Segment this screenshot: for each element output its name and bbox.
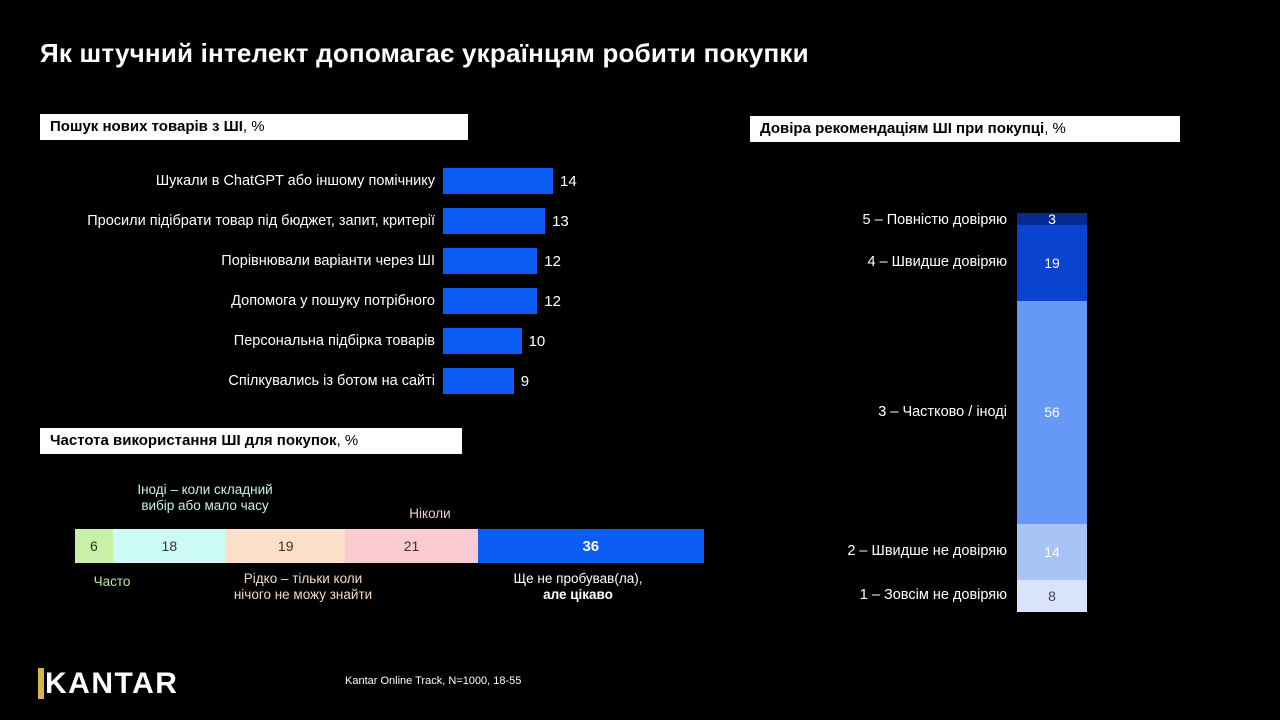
bar-row: Спілкувались із ботом на сайті9 xyxy=(40,368,660,394)
frequency-callout-often: Часто xyxy=(62,574,162,590)
trust-segment-label: 4 – Швидше довіряю xyxy=(867,254,1007,270)
trust-segment: 8 xyxy=(1017,580,1087,612)
bar-fill xyxy=(443,288,537,314)
frequency-callout-never: Ніколи xyxy=(340,506,520,522)
bar-fill xyxy=(443,328,522,354)
section-header-trust-label: Довіра рекомендаціям ШІ при покупці xyxy=(760,120,1044,137)
search-ai-products-chart: Шукали в ChatGPT або іншому помічнику14П… xyxy=(40,168,660,398)
trust-segment: 19 xyxy=(1017,225,1087,301)
frequency-segment: 18 xyxy=(113,529,226,563)
page-title: Як штучний інтелект допомагає українцям … xyxy=(40,38,809,69)
bar-row-label: Допомога у пошуку потрібного xyxy=(40,293,443,309)
bar-track: 14 xyxy=(443,168,577,194)
bar-fill xyxy=(443,368,514,394)
bar-track: 9 xyxy=(443,368,529,394)
bar-fill xyxy=(443,168,553,194)
bar-value-label: 10 xyxy=(529,333,546,350)
section-header-search-label: Пошук нових товарів з ШІ xyxy=(50,118,243,135)
kantar-logo-accent-bar xyxy=(38,668,44,699)
bar-fill xyxy=(443,248,537,274)
section-header-frequency-label: Частота використання ШІ для покупок xyxy=(50,432,337,449)
bar-row: Порівнювали варіанти через ШІ12 xyxy=(40,248,660,274)
trust-in-ai-recommendations-chart: 31956148 5 – Повністю довіряю4 – Швидше … xyxy=(750,213,1190,613)
section-header-trust-unit: , % xyxy=(1044,120,1066,137)
frequency-segment: 19 xyxy=(226,529,346,563)
frequency-of-ai-use-chart: 618192136 ЧастоІноді – коли складний виб… xyxy=(40,478,680,618)
bar-value-label: 12 xyxy=(544,293,561,310)
bar-row: Допомога у пошуку потрібного12 xyxy=(40,288,660,314)
frequency-segment: 6 xyxy=(75,529,113,563)
section-header-search: Пошук нових товарів з ШІ, % xyxy=(40,114,468,140)
bar-row: Шукали в ChatGPT або іншому помічнику14 xyxy=(40,168,660,194)
bar-row-label: Порівнювали варіанти через ШІ xyxy=(40,253,443,269)
bar-value-label: 14 xyxy=(560,173,577,190)
bar-row-label: Просили підібрати товар під бюджет, запи… xyxy=(40,213,443,229)
frequency-callout-rarely: Рідко – тільки коли нічого не можу знайт… xyxy=(178,571,428,603)
frequency-callout-sometimes: Іноді – коли складний вибір або мало час… xyxy=(85,482,325,514)
trust-stacked-column: 31956148 xyxy=(1017,213,1087,612)
frequency-stacked-bar: 618192136 xyxy=(75,529,704,563)
source-note: Kantar Online Track, N=1000, 18-55 xyxy=(345,675,521,687)
section-header-frequency: Частота використання ШІ для покупок, % xyxy=(40,428,462,454)
bar-value-label: 13 xyxy=(552,213,569,230)
bar-row-label: Персональна підбірка товарів xyxy=(40,333,443,349)
trust-segment: 56 xyxy=(1017,301,1087,524)
bar-value-label: 12 xyxy=(544,253,561,270)
frequency-callout-not-tried-line2: але цікаво xyxy=(453,587,703,603)
bar-track: 12 xyxy=(443,288,561,314)
bar-value-label: 9 xyxy=(521,373,529,390)
bar-track: 12 xyxy=(443,248,561,274)
section-header-trust: Довіра рекомендаціям ШІ при покупці, % xyxy=(750,116,1180,142)
frequency-callout-not-tried: Ще не пробував(ла),але цікаво xyxy=(453,571,703,603)
bar-fill xyxy=(443,208,545,234)
section-header-frequency-unit: , % xyxy=(337,432,359,449)
frequency-segment: 36 xyxy=(478,529,704,563)
bar-row: Просили підібрати товар під бюджет, запи… xyxy=(40,208,660,234)
section-header-search-unit: , % xyxy=(243,118,265,135)
kantar-logo-text: KANTAR xyxy=(45,668,178,699)
kantar-logo: KANTAR xyxy=(38,666,178,700)
bar-row-label: Спілкувались із ботом на сайті xyxy=(40,373,443,389)
trust-segment-label: 5 – Повністю довіряю xyxy=(863,212,1007,228)
bar-row-label: Шукали в ChatGPT або іншому помічнику xyxy=(40,173,443,189)
trust-segment: 3 xyxy=(1017,213,1087,225)
trust-segment-label: 2 – Швидше не довіряю xyxy=(847,543,1007,559)
trust-segment: 14 xyxy=(1017,524,1087,580)
frequency-segment: 21 xyxy=(345,529,477,563)
frequency-callout-not-tried-line1: Ще не пробував(ла), xyxy=(514,571,643,586)
bar-track: 13 xyxy=(443,208,569,234)
trust-segment-label: 1 – Зовсім не довіряю xyxy=(860,587,1007,603)
bar-track: 10 xyxy=(443,328,545,354)
trust-segment-label: 3 – Частково / іноді xyxy=(878,404,1007,420)
bar-row: Персональна підбірка товарів10 xyxy=(40,328,660,354)
